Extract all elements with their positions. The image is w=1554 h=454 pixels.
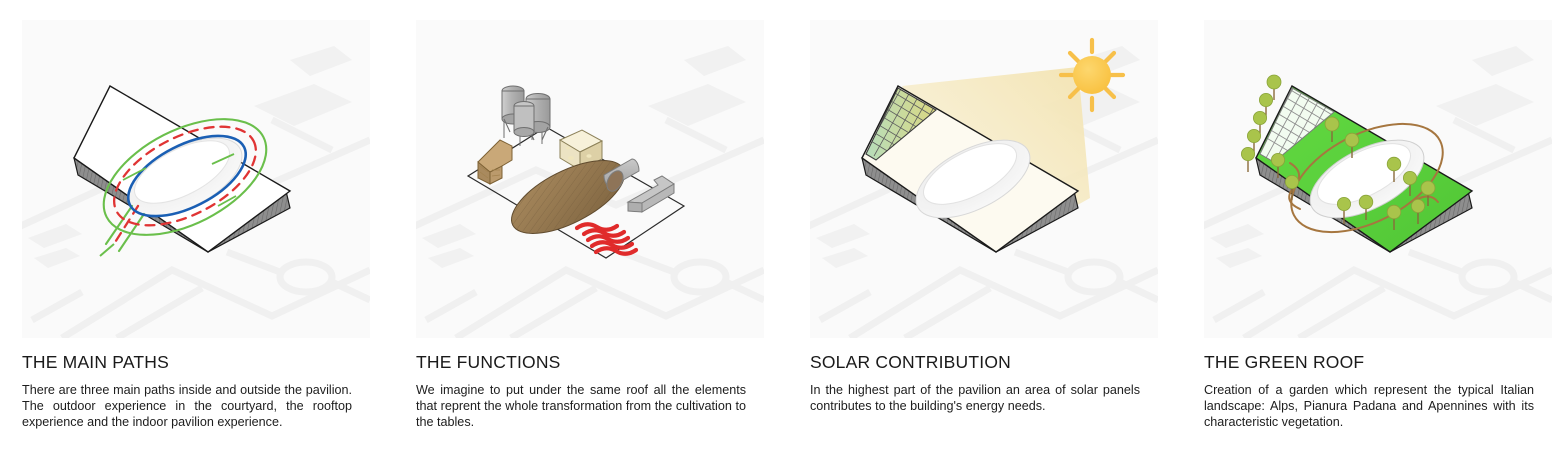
caption-functions: THE FUNCTIONS We imagine to put under th…: [416, 338, 746, 431]
panel-functions: THE FUNCTIONS We imagine to put under th…: [416, 20, 766, 454]
panel-body: Creation of a garden which represent the…: [1204, 382, 1534, 431]
caption-green-roof: THE GREEN ROOF Creation of a garden whic…: [1204, 338, 1534, 431]
figure-functions: [416, 20, 764, 338]
figure-main-paths: [22, 20, 370, 338]
caption-solar: SOLAR CONTRIBUTION In the highest part o…: [810, 338, 1140, 414]
panel-body: There are three main paths inside and ou…: [22, 382, 352, 431]
diagram-board: THE MAIN PATHS There are three main path…: [0, 0, 1554, 454]
panel-body: We imagine to put under the same roof al…: [416, 382, 746, 431]
panel-title: THE FUNCTIONS: [416, 352, 746, 373]
solar-contribution-diagram: [810, 20, 1158, 338]
panel-title: THE MAIN PATHS: [22, 352, 352, 373]
functions-program-diagram: [416, 20, 764, 338]
panel-solar: SOLAR CONTRIBUTION In the highest part o…: [810, 20, 1160, 454]
panel-title: THE GREEN ROOF: [1204, 352, 1534, 373]
panel-title: SOLAR CONTRIBUTION: [810, 352, 1140, 373]
figure-solar: [810, 20, 1158, 338]
green-roof-diagram: [1204, 20, 1552, 338]
panel-green-roof: THE GREEN ROOF Creation of a garden whic…: [1204, 20, 1554, 454]
panel-main-paths: THE MAIN PATHS There are three main path…: [22, 20, 372, 454]
panel-body: In the highest part of the pavilion an a…: [810, 382, 1140, 414]
pavilion-paths-diagram: [22, 20, 370, 338]
figure-green-roof: [1204, 20, 1552, 338]
caption-main-paths: THE MAIN PATHS There are three main path…: [22, 338, 352, 431]
